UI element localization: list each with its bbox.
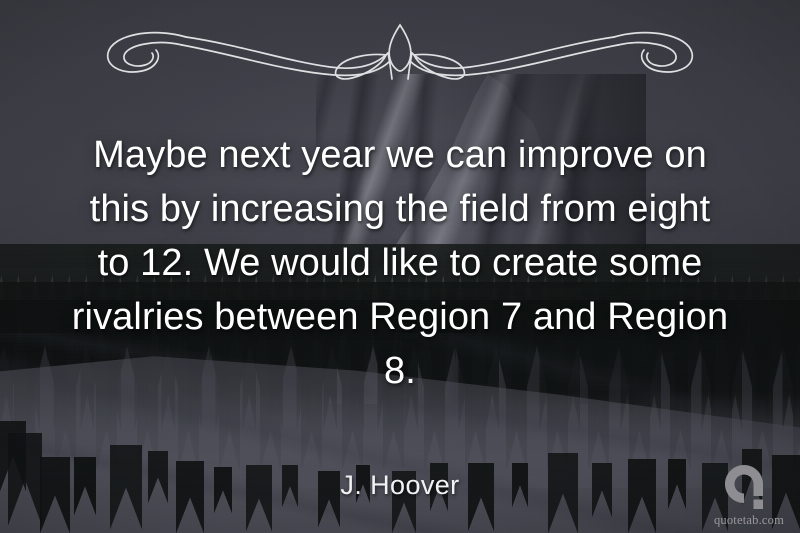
quotetab-q-logo-icon [722, 462, 776, 512]
quote-line: 8. [384, 350, 416, 392]
watermark[interactable]: quotetab.com [706, 462, 792, 527]
quote-line: to 12. We would like to create some [98, 242, 703, 284]
quote-line: Maybe next year we can improve on [93, 134, 707, 176]
quote-image-card: Maybe next year we can improve onthis by… [0, 0, 800, 533]
quote-author: J. Hoover [0, 470, 800, 501]
quote-line: this by increasing the field from eight [90, 188, 711, 230]
quote-line: rivalries between Region 7 and Region [72, 296, 728, 338]
divider-flourish-icon [90, 9, 710, 87]
watermark-site-label: quotetab.com [706, 513, 792, 527]
quote-text: Maybe next year we can improve onthis by… [50, 128, 750, 398]
